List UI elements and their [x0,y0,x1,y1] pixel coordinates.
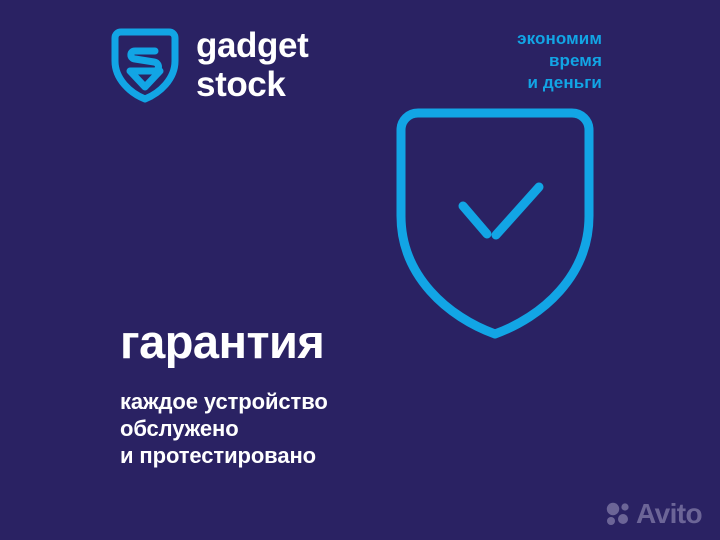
gadget-stock-shield-logo [108,25,182,103]
tagline-line-2: время [517,50,602,72]
tagline-line-3: и деньги [517,72,602,94]
brand-wordmark: gadget stock [196,24,308,104]
subcopy-line-1: каждое устройство [120,388,500,415]
tagline: экономим время и деньги [517,28,602,94]
avito-watermark: Avito [605,500,702,528]
subcopy-line-3: и протестировано [120,442,500,469]
shield-check-icon [392,104,598,342]
tagline-line-1: экономим [517,28,602,50]
avito-dots-icon [605,501,631,527]
brand-name-line-1: gadget [196,26,308,65]
brand-lockup: gadget stock [108,24,308,104]
avito-watermark-label: Avito [636,500,702,528]
brand-name-line-2: stock [196,65,308,104]
copy-block: гарантия каждое устройство обслужено и п… [120,318,500,469]
page-title: гарантия [120,318,500,366]
subcopy: каждое устройство обслужено и протестиро… [120,388,500,469]
subcopy-line-2: обслужено [120,415,500,442]
promo-banner: gadget stock экономим время и деньги гар… [0,0,720,540]
